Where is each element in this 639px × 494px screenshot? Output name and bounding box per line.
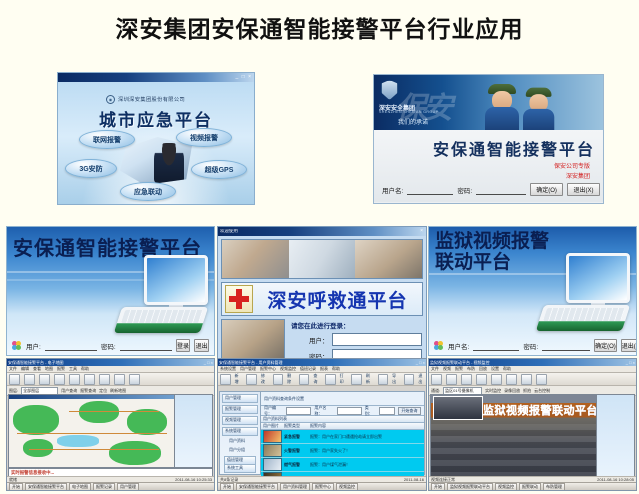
app-prison-video: 监狱视频报警联动平台 - 视频监控 _ □ × 文件 视频 报警 布防 回放 设…	[428, 358, 637, 491]
table-row[interactable]: 火警报警报警：用户家失火了！	[261, 444, 424, 458]
menu-item-tools[interactable]: 工具	[69, 366, 77, 372]
panel-abt-platform: 安保通智能接警平台 用户: 密码: 登录 退出	[6, 226, 215, 356]
map-header-strip	[9, 395, 174, 399]
locate-button[interactable]: 定位	[99, 388, 107, 394]
search-input-code[interactable]	[286, 407, 311, 415]
edition-note-2: 深安集团	[566, 171, 590, 180]
save-icon[interactable]	[24, 374, 35, 385]
menu-item-alarm[interactable]: 报警	[57, 366, 65, 372]
window-controls[interactable]: _ □ ×	[416, 360, 425, 365]
menu-item-map[interactable]: 地图	[45, 366, 53, 372]
username-input[interactable]	[473, 340, 519, 351]
refresh-icon[interactable]	[351, 374, 362, 385]
list-title-row: 用户资料列表	[261, 416, 424, 423]
row-thumbnail	[263, 458, 282, 471]
edit-icon[interactable]	[246, 374, 257, 385]
menu-bar: 系统设置 用户管理 报警中心 视频监控 值班记录 报表 帮助	[218, 366, 426, 373]
toolbar-add-label[interactable]: 新增	[235, 373, 243, 385]
start-button[interactable]: 开始	[431, 483, 445, 491]
refresh-map-button[interactable]: 刷新地图	[110, 388, 126, 394]
window-controls[interactable]: _ □ ×	[236, 75, 253, 80]
oval-button-super-gps[interactable]: 超级GPS	[191, 160, 247, 179]
row-alarm-type: 紧急报警	[284, 434, 310, 440]
username-input[interactable]	[407, 184, 453, 195]
flower-icon	[12, 341, 22, 350]
table-row[interactable]: 紧急报警报警：用户在家门口遭遇抢劫请立即出警	[261, 430, 424, 444]
stop-icon[interactable]	[461, 374, 472, 385]
platform-heading: 安保通智能接警平台	[433, 136, 595, 160]
snapshot-icon[interactable]	[491, 374, 502, 385]
monitor-screen	[144, 255, 208, 305]
password-label: 密码:	[101, 341, 116, 351]
username-input[interactable]	[45, 340, 97, 351]
keyboard-keys	[121, 310, 203, 323]
menu-item-edit[interactable]: 编辑	[21, 366, 29, 372]
map-green-area	[13, 405, 59, 435]
pan-icon[interactable]	[84, 374, 95, 385]
map-road	[69, 411, 159, 412]
window-titlebar: 监狱视频报警联动平台 - 视频监控 _ □ ×	[429, 359, 636, 366]
menu-item-video[interactable]: 视频	[443, 366, 451, 372]
toolbar-print-label[interactable]: 打印	[340, 373, 348, 385]
login-area: 请您在此进行登录： 用户： 密码： 登录 退出	[221, 319, 423, 360]
map-green-area	[79, 401, 119, 423]
password-label: 密码:	[457, 185, 472, 195]
list-title: 用户资料列表	[261, 416, 287, 422]
table-header: 用户图片 报警类型 报警内容	[261, 423, 424, 430]
search-panel: 用户资料查询条件设置	[261, 392, 424, 406]
menu-item-playback[interactable]: 回放	[479, 366, 487, 372]
print-icon[interactable]	[325, 374, 336, 385]
open-icon[interactable]	[9, 374, 20, 385]
heading-line-2: 联动平台	[435, 251, 511, 273]
print-icon[interactable]	[39, 374, 50, 385]
menu-item-system[interactable]: 系统设置	[220, 366, 236, 372]
guard-body	[485, 107, 519, 130]
window-title-text: 安保通智能接警平台 - 电子地图	[8, 360, 64, 366]
taskbar-item-map[interactable]: 电子地图	[69, 483, 91, 491]
search-label-name: 用户名称：	[314, 405, 333, 417]
platform-heading: 监狱视频报警 联动平台	[435, 231, 549, 273]
password-input[interactable]	[120, 340, 172, 351]
login-prompt: 请您在此进行登录：	[291, 320, 423, 330]
photo-nurses	[289, 240, 356, 278]
window-controls[interactable]: _ □ ×	[204, 360, 213, 365]
taskbar-item-user-mgmt[interactable]: 用户资料管理	[280, 483, 310, 491]
red-cross-icon	[225, 285, 253, 313]
row-alarm-type: 火警报警	[284, 448, 310, 454]
toolbar-refresh-label[interactable]: 刷新	[366, 373, 374, 385]
keyboard-keys	[543, 308, 625, 321]
username-label: 用户名:	[382, 185, 403, 195]
taskbar-item-records[interactable]: 报警记录	[93, 483, 115, 491]
taskbar-item-video[interactable]: 视频监控	[336, 483, 358, 491]
app-user-list: 安保通智能接警平台 - 用户资料管理 _ □ × 系统设置 用户管理 报警中心 …	[217, 358, 427, 491]
start-button[interactable]: 开始	[9, 483, 23, 491]
taskbar-item-users[interactable]: 用户管理	[117, 483, 139, 491]
exit-button[interactable]: 退出(X)	[567, 183, 600, 196]
username-label: 用户名:	[448, 341, 469, 351]
column-header-type: 报警类型	[284, 423, 310, 429]
measure-icon[interactable]	[99, 374, 110, 385]
username-row: 用户：	[291, 333, 423, 346]
menu-item-view[interactable]: 查看	[33, 366, 41, 372]
photo-family	[222, 240, 289, 278]
toolbar-export-label[interactable]: 导出	[392, 373, 400, 385]
delete-icon[interactable]	[273, 374, 284, 385]
banner-slogan: 我们的承诺	[398, 117, 428, 126]
toolbar-delete-label[interactable]: 删除	[287, 373, 295, 385]
video-view[interactable]: 监狱视频报警联动平台	[430, 394, 597, 481]
sidebar-item-tools[interactable]: 系统工具	[224, 464, 256, 473]
password-input[interactable]	[542, 340, 590, 351]
company-name: 深圳深安集团股份有限公司	[118, 96, 185, 103]
map-water-area	[57, 435, 99, 447]
company-header: ◉ 深圳深安集团股份有限公司	[106, 95, 185, 104]
window-titlebar: 安保通智能接警平台 - 电子地图 _ □ ×	[7, 359, 214, 366]
photo-family-group	[221, 319, 285, 360]
map-road	[29, 449, 159, 450]
menu-item-users[interactable]: 用户管理	[240, 366, 256, 372]
login-form: 用户名: 密码: 确定(O) 退出(X)	[382, 183, 600, 196]
page-title: 深安集团安保通智能接警平台行业应用	[0, 10, 639, 44]
menu-item-alarm-center[interactable]: 报警中心	[260, 366, 276, 372]
split-screen-icon[interactable]	[506, 374, 517, 385]
exit-icon[interactable]	[404, 374, 415, 385]
row-thumbnail	[263, 444, 282, 457]
sidebar-group-alarm[interactable]: 报警管理	[222, 405, 258, 414]
menu-item-alarm[interactable]: 报警	[455, 366, 463, 372]
company-seal-icon: ◉	[106, 95, 115, 104]
keyboard-icon	[114, 307, 208, 333]
playback-button[interactable]: 录像回放	[504, 388, 520, 394]
menu-item-file[interactable]: 文件	[431, 366, 439, 372]
search-panel-title: 用户资料查询条件设置	[264, 396, 304, 402]
login-button[interactable]: 登录	[176, 339, 191, 352]
search-button[interactable]: 开始查询	[398, 407, 421, 415]
app-gis-map: 安保通智能接警平台 - 电子地图 _ □ × 文件 编辑 查看 地图 报警 工具…	[6, 358, 215, 491]
toolbar: 新增 修改 删除 查询 打印 刷新 导出 退出	[218, 373, 426, 386]
photo-elderly-care	[355, 240, 422, 278]
inset-thumbnail[interactable]	[433, 396, 483, 420]
toolbar	[7, 373, 214, 386]
username-label: 用户:	[26, 341, 41, 351]
window-titlebar: _ □ ×	[58, 73, 254, 82]
map-green-area	[23, 439, 53, 457]
record-icon[interactable]	[476, 374, 487, 385]
table-row[interactable]: 燃气报警报警：用户煤气泄漏！	[261, 458, 424, 472]
layer-label: 图层:	[9, 388, 18, 394]
menu-bar: 文件 视频 报警 布防 回放 设置 帮助	[429, 366, 636, 373]
menu-bar: 文件 编辑 查看 地图 报警 工具 帮助	[7, 366, 214, 373]
sidebar-group-system[interactable]: 系统管理	[222, 427, 258, 436]
row-thumbnail	[263, 430, 282, 443]
ok-button[interactable]: 确定(O)	[530, 183, 563, 196]
oval-button-network-alarm[interactable]: 联网报警	[79, 130, 135, 149]
search-input-name[interactable]	[337, 407, 362, 415]
window-title-text: 欢迎使用	[220, 229, 238, 234]
heading-line-1: 监狱视频报警	[435, 230, 549, 252]
user-query-button[interactable]: 用户查询	[61, 388, 77, 394]
menu-item-help[interactable]: 帮助	[81, 366, 89, 372]
taskbar-item-platform[interactable]: 监狱视频报警联动平台	[447, 483, 493, 491]
login-banner: 保安 深安安全集团 SHENZHEN SHEN'AN GROUP 我们的承诺	[374, 75, 603, 130]
oval-button-3g-security[interactable]: 3G安防	[65, 159, 117, 178]
map-canvas[interactable]	[8, 394, 175, 468]
panel-rescue-platform: 欢迎使用 × 深安呼救通平台 请您在此进行登录： 用户： 密码： 登录 退出	[217, 226, 427, 360]
panel-body: ◉ 深圳深安集团股份有限公司 城市应急平台 联网报警 视频报警 3G安防 超级G…	[58, 82, 254, 204]
taskbar-item-video[interactable]: 视频监控	[495, 483, 517, 491]
ok-button[interactable]: 确定(O)	[594, 339, 617, 352]
platform-heading: 城市应急平台	[58, 106, 254, 131]
taskbar: 开始 安保通智能接警平台 电子地图 报警记录 用户管理	[7, 482, 214, 490]
column-header-image: 用户图片	[261, 423, 284, 429]
prisoner-rows	[431, 424, 596, 480]
sidebar-item-user-profile[interactable]: 用户资料	[227, 438, 258, 445]
row-alarm-text: 报警：用户在家门口遭遇抢劫请立即出警	[310, 434, 424, 440]
channel-label: 通道:	[431, 388, 440, 394]
menu-item-duty[interactable]: 值班记录	[300, 366, 316, 372]
video-side-panel[interactable]	[596, 394, 635, 481]
username-label: 用户：	[309, 335, 329, 345]
flower-icon	[434, 341, 444, 350]
login-lower: 安保通智能接警平台 保安公司专版 深安集团 用户名: 密码: 确定(O) 退出(…	[374, 130, 603, 202]
toolbar-exit-label[interactable]: 退出	[418, 373, 426, 385]
fullscreen-icon[interactable]	[536, 374, 547, 385]
sidebar-item-user-group[interactable]: 用户分组	[227, 447, 258, 454]
panel-prison-login: 监狱视频报警 联动平台 用户名: 密码: 确定(O) 退出(X)	[428, 226, 637, 356]
search-icon[interactable]	[299, 374, 310, 385]
add-icon[interactable]	[220, 374, 231, 385]
content-pane: 用户资料查询条件设置 用户编号： 用户名称： 类别： 开始查询 用户资料列表 用…	[260, 391, 425, 475]
column-header-content: 报警内容	[310, 423, 424, 429]
menu-item-report[interactable]: 报表	[320, 366, 328, 372]
live-view-button[interactable]: 实时监控	[485, 388, 501, 394]
guard-figure-right	[523, 88, 554, 130]
taskbar: 开始 监狱视频报警联动平台 视频监控 报警联动 布防管理	[429, 482, 636, 490]
layer-icon[interactable]	[114, 374, 125, 385]
row-alarm-type: 燃气报警	[284, 462, 310, 468]
taskbar: 开始 安保通智能接警平台 用户资料管理 报警中心 视频监控	[218, 482, 426, 490]
login-form: 用户: 密码: 登录 退出	[7, 339, 214, 352]
row-alarm-text: 报警：用户煤气泄漏！	[310, 462, 424, 468]
taskbar-item-alarm-center[interactable]: 报警中心	[312, 483, 334, 491]
map-side-panel[interactable]	[174, 394, 213, 468]
menu-item-help[interactable]: 帮助	[503, 366, 511, 372]
sidebar: 用户管理 报警管理 视频管理 系统管理 用户资料 用户分组 区域设置 操作日志 …	[219, 391, 261, 475]
snapshot-button[interactable]: 抓拍	[523, 388, 531, 394]
sidebar-group-users[interactable]: 用户管理	[222, 394, 258, 403]
toolbar-edit-label[interactable]: 修改	[261, 373, 269, 385]
window-titlebar: 安保通智能接警平台 - 用户资料管理 _ □ ×	[218, 359, 426, 366]
taskbar-item-platform[interactable]: 安保通智能接警平台	[236, 483, 278, 491]
play-icon[interactable]	[431, 374, 442, 385]
panel-security-login: 保安 深安安全集团 SHENZHEN SHEN'AN GROUP 我们的承诺 安…	[373, 74, 604, 204]
ptz-button[interactable]: 云台控制	[534, 388, 550, 394]
edition-note-1: 保安公司专版	[554, 161, 590, 170]
menu-item-video[interactable]: 视频监控	[280, 366, 296, 372]
map-green-area	[109, 441, 161, 465]
alarm-query-button[interactable]: 报警查询	[80, 388, 96, 394]
taskbar-item-arm[interactable]: 布防管理	[543, 483, 565, 491]
login-form: 请您在此进行登录： 用户： 密码： 登录 退出	[285, 319, 423, 360]
panel-body: 监狱视频报警 联动平台 用户名: 密码: 确定(O) 退出(X)	[429, 227, 636, 355]
login-form: 用户名: 密码: 确定(O) 退出(X)	[429, 339, 636, 352]
map-road	[17, 433, 167, 434]
guard-figure-left	[485, 84, 519, 130]
oval-button-emergency-linkage[interactable]: 应急联动	[120, 182, 176, 201]
map-green-area	[127, 409, 167, 435]
brand-header: 深安呼救通平台	[221, 282, 423, 316]
monitor-screen	[566, 253, 630, 303]
window-title-text: 监狱视频报警联动平台 - 视频监控	[430, 360, 490, 366]
menu-item-settings[interactable]: 设置	[491, 366, 499, 372]
zoom-out-icon[interactable]	[69, 374, 80, 385]
password-input[interactable]	[476, 184, 526, 195]
close-icon[interactable]: ×	[420, 229, 424, 234]
platform-heading: 深安呼救通平台	[253, 286, 422, 313]
keyboard-icon	[536, 305, 630, 331]
zoom-in-icon[interactable]	[54, 374, 65, 385]
guards-photo	[483, 78, 579, 130]
search-select-type[interactable]	[379, 407, 394, 415]
toolbar-search-label[interactable]: 查询	[313, 373, 321, 385]
pause-icon[interactable]	[446, 374, 457, 385]
panel-body: 安保通智能接警平台 用户: 密码: 登录 退出	[7, 227, 214, 355]
panel-city-emergency: _ □ × ◉ 深圳深安集团股份有限公司 城市应急平台 联网报警 视频报警 3G…	[57, 72, 255, 205]
menu-item-file[interactable]: 文件	[9, 366, 17, 372]
search-fields: 用户编号： 用户名称： 类别： 开始查询	[261, 406, 424, 416]
locate-icon[interactable]	[129, 374, 140, 385]
taskbar-item-platform[interactable]: 安保通智能接警平台	[25, 483, 67, 491]
window-controls[interactable]: _ □ ×	[626, 360, 635, 365]
menu-item-arm[interactable]: 布防	[467, 366, 475, 372]
export-icon[interactable]	[378, 374, 389, 385]
search-label-type: 类别：	[365, 405, 377, 417]
password-label: 密码:	[523, 341, 538, 351]
banner-company-en: SHENZHEN SHEN'AN GROUP	[379, 110, 438, 114]
exit-button[interactable]: 退出	[194, 339, 209, 352]
search-label-code: 用户编号：	[264, 405, 283, 417]
ptz-icon[interactable]	[521, 374, 532, 385]
start-button[interactable]: 开始	[220, 483, 234, 491]
window-title-text: 安保通智能接警平台 - 用户资料管理	[219, 360, 283, 366]
video-overlay-title: 监狱视频报警联动平台	[483, 402, 597, 418]
username-input[interactable]	[332, 333, 422, 346]
row-alarm-text: 报警：用户家失火了！	[310, 448, 424, 454]
toolbar	[429, 373, 636, 386]
exit-button[interactable]: 退出(X)	[621, 339, 637, 352]
oval-button-video-alarm[interactable]: 视频报警	[176, 128, 232, 147]
taskbar-item-linkage[interactable]: 报警联动	[519, 483, 541, 491]
menu-item-help[interactable]: 帮助	[332, 366, 340, 372]
guard-body	[523, 109, 554, 130]
window-titlebar: 欢迎使用 ×	[218, 227, 426, 236]
sidebar-group-video[interactable]: 视频管理	[222, 416, 258, 425]
header-photo-strip	[221, 239, 423, 279]
